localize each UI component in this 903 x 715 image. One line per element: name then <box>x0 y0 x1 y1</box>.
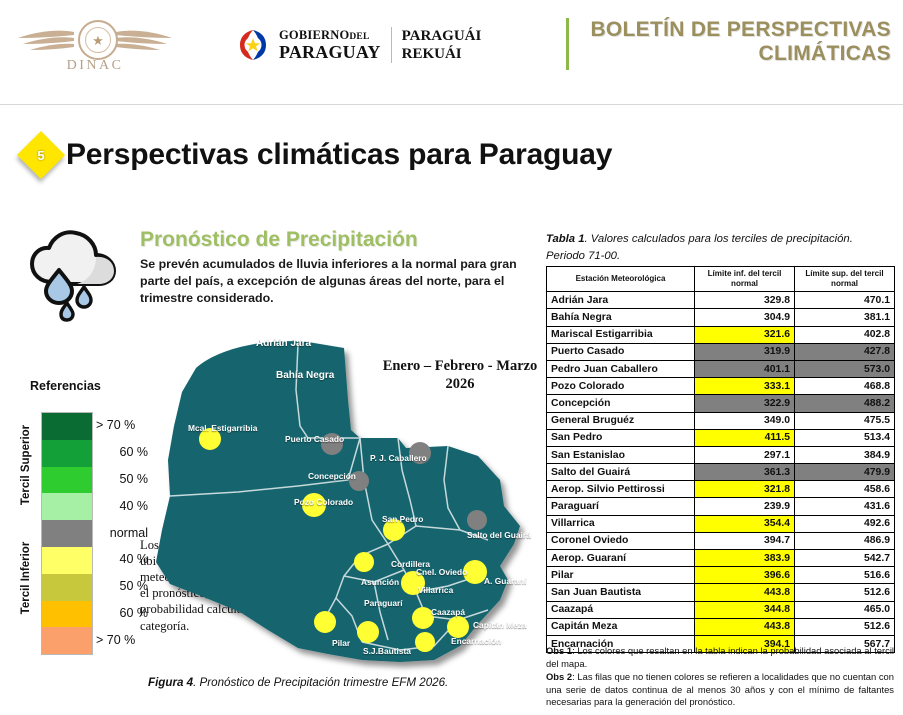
logo-divider <box>391 27 392 63</box>
legend-swatch-4 <box>42 520 92 547</box>
gobierno-paraguay-logo: GOBIERNODEL PARAGUAY PARAGUÁI REKUÁI <box>236 22 481 68</box>
legend-swatch-1 <box>42 440 92 467</box>
gobierno-del: DEL <box>349 32 369 42</box>
cell-station: Aerop. Silvio Pettirossi <box>547 481 695 498</box>
bulletin-title: BOLETÍN DE PERSPECTIVAS CLIMÁTICAS <box>581 18 891 66</box>
table-row: Caazapá344.8465.0 <box>547 601 895 618</box>
cell-tercil-sup: 458.6 <box>795 481 895 498</box>
forecast-block: Pronóstico de Precipitación Se prevén ac… <box>140 228 530 307</box>
legend-swatch-5 <box>42 547 92 574</box>
cell-tercil-inf: 443.8 <box>695 584 795 601</box>
table-body: Adrián Jara329.8470.1Bahía Negra304.9381… <box>547 292 895 653</box>
wing-right-icon <box>114 26 176 56</box>
map-label: Pilar <box>332 638 350 648</box>
legend-label-2: 50 % <box>94 466 154 493</box>
legend-label-1: 60 % <box>94 439 154 466</box>
map-station-dot[interactable] <box>415 632 435 652</box>
table-row: Pedro Juan Caballero401.1573.0 <box>547 360 895 377</box>
legend-swatch-6 <box>42 574 92 601</box>
map-label: Salto del Guairá <box>467 530 531 540</box>
table-row: San Pedro411.5513.4 <box>547 429 895 446</box>
cell-tercil-inf: 321.6 <box>695 326 795 343</box>
map-label: Mcal. Estigarribia <box>188 423 257 433</box>
guarani-line1: PARAGUÁI <box>402 29 482 44</box>
cell-tercil-inf: 443.8 <box>695 618 795 635</box>
cell-station: Villarrica <box>547 515 695 532</box>
header-accent-divider <box>566 18 569 70</box>
table-row: Coronel Oviedo394.7486.9 <box>547 532 895 549</box>
map-label: Villarrica <box>418 585 453 595</box>
map-label: Pozo Colorado <box>294 497 353 507</box>
legend-group-labels: Tercil Superior Tercil Inferior <box>14 412 36 657</box>
cell-tercil-inf: 344.8 <box>695 601 795 618</box>
map-label: Adrián Jara <box>256 338 311 349</box>
map-period-year: 2026 <box>446 376 475 392</box>
map-label: Puerto Casado <box>285 434 344 444</box>
figure-caption-text: . Pronóstico de Precipitación trimestre … <box>193 676 448 689</box>
cell-station: Bahía Negra <box>547 309 695 326</box>
figure-caption-label: Figura 4 <box>148 676 193 689</box>
section-number: 5 <box>18 132 64 178</box>
table-row: Capitán Meza443.8512.6 <box>547 618 895 635</box>
cell-station: San Juan Bautista <box>547 584 695 601</box>
map-period-label: Enero – Febrero - Marzo 2026 <box>380 357 540 393</box>
map-station-dot[interactable] <box>447 616 469 638</box>
cell-tercil-inf: 354.4 <box>695 515 795 532</box>
legend-swatch-0 <box>42 413 92 440</box>
col-header-station: Estación Meteorológica <box>547 267 695 292</box>
cell-tercil-inf: 239.9 <box>695 498 795 515</box>
cell-station: Caazapá <box>547 601 695 618</box>
cell-tercil-sup: 384.9 <box>795 446 895 463</box>
cell-station: Puerto Casado <box>547 343 695 360</box>
cell-tercil-inf: 349.0 <box>695 412 795 429</box>
paraguay-emblem-icon <box>236 28 270 62</box>
legend-label-0: > 70 % <box>94 412 154 439</box>
table-row: Puerto Casado319.9427.8 <box>547 343 895 360</box>
guarani-line2: REKUÁI <box>402 47 482 62</box>
cell-tercil-sup: 427.8 <box>795 343 895 360</box>
forecast-heading: Pronóstico de Precipitación <box>140 228 530 252</box>
cell-tercil-sup: 513.4 <box>795 429 895 446</box>
dinac-seal-icon: ★ <box>78 20 118 60</box>
legend-group-upper: Tercil Superior <box>20 411 32 519</box>
forecast-body: Se prevén acumulados de lluvia inferiore… <box>140 256 530 307</box>
table-caption-text: . Valores calculados para los terciles d… <box>546 233 853 262</box>
table-row: Adrián Jara329.8470.1 <box>547 292 895 309</box>
map-label: Concepción <box>308 471 356 481</box>
map-label: Capitán Meza <box>473 620 527 630</box>
legend-panel: Tercil Superior Tercil Inferior > 70 %60… <box>14 412 139 657</box>
map-label: Bahía Negra <box>276 370 334 381</box>
legend-title: Referencias <box>30 379 101 393</box>
page-header: ★ DINAC GOBIERNODEL PARAGUAY <box>0 0 903 105</box>
map-station-dot[interactable] <box>354 552 374 572</box>
map-station-dot[interactable] <box>314 611 336 633</box>
gobierno-line2: PARAGUAY <box>279 43 381 61</box>
map-label: San Pedro <box>382 514 423 524</box>
cell-tercil-sup: 573.0 <box>795 360 895 377</box>
cell-station: Pedro Juan Caballero <box>547 360 695 377</box>
cell-tercil-sup: 479.9 <box>795 464 895 481</box>
table-caption-label: Tabla 1 <box>546 233 585 245</box>
cell-tercil-sup: 468.8 <box>795 378 895 395</box>
map-period-months: Enero – Febrero - Marzo <box>383 358 538 374</box>
cell-station: Pilar <box>547 567 695 584</box>
map-label: Paraguarí <box>364 598 403 608</box>
table-row: San Estanislao297.1384.9 <box>547 446 895 463</box>
bulletin-page: ★ DINAC GOBIERNODEL PARAGUAY <box>0 0 903 715</box>
table-row: Bahía Negra304.9381.1 <box>547 309 895 326</box>
cell-station: Mariscal Estigarribia <box>547 326 695 343</box>
col-header-inf: Límite inf. del tercilnormal <box>695 267 795 292</box>
legend-swatch-3 <box>42 493 92 520</box>
map-label: A. Guaraní <box>484 576 526 586</box>
map-label: Cnel. Oviedo <box>416 567 467 577</box>
cell-tercil-sup: 470.1 <box>795 292 895 309</box>
cell-station: Paraguarí <box>547 498 695 515</box>
table-caption: Tabla 1. Valores calculados para los ter… <box>546 231 894 265</box>
dinac-logo: ★ DINAC <box>10 12 180 94</box>
table-row: Aerop. Guaraní383.9542.7 <box>547 550 895 567</box>
map-label: Asunción <box>361 577 399 587</box>
cell-tercil-sup: 465.0 <box>795 601 895 618</box>
cell-tercil-inf: 329.8 <box>695 292 795 309</box>
gobierno-line1: GOBIERNO <box>279 28 349 42</box>
cell-tercil-sup: 475.5 <box>795 412 895 429</box>
legend-swatch-2 <box>42 467 92 494</box>
map-station-dot[interactable] <box>467 510 487 530</box>
legend-swatch-column <box>41 412 93 655</box>
cell-station: General Bruguéz <box>547 412 695 429</box>
col-header-sup: Límite sup. del tercilnormal <box>795 267 895 292</box>
table-header-row: Estación Meteorológica Límite inf. del t… <box>547 267 895 292</box>
cell-tercil-inf: 304.9 <box>695 309 795 326</box>
cell-tercil-sup: 402.8 <box>795 326 895 343</box>
cell-tercil-sup: 492.6 <box>795 515 895 532</box>
map-label: Caazapá <box>431 607 465 617</box>
map-label: P. J. Caballero <box>370 453 427 463</box>
paraguay-forecast-map: Enero – Febrero - Marzo 2026 Adrián Jara… <box>148 330 538 675</box>
table-row: General Bruguéz349.0475.5 <box>547 412 895 429</box>
cell-station: Pozo Colorado <box>547 378 695 395</box>
cell-tercil-sup: 381.1 <box>795 309 895 326</box>
legend-swatch-8 <box>42 627 92 654</box>
cell-tercil-inf: 411.5 <box>695 429 795 446</box>
cell-station: Adrián Jara <box>547 292 695 309</box>
cell-tercil-sup: 512.6 <box>795 618 895 635</box>
legend-group-lower: Tercil Inferior <box>20 524 32 632</box>
table-row: Salto del Guairá361.3479.9 <box>547 464 895 481</box>
page-title: Perspectivas climáticas para Paraguay <box>66 138 612 172</box>
cell-tercil-inf: 396.6 <box>695 567 795 584</box>
cell-tercil-inf: 322.9 <box>695 395 795 412</box>
obs-1: Obs 1: Los colores que resaltan en la ta… <box>546 645 894 670</box>
header-rule <box>0 104 903 105</box>
table-row: Pozo Colorado333.1468.8 <box>547 378 895 395</box>
cell-tercil-inf: 401.1 <box>695 360 795 377</box>
cell-tercil-inf: 321.8 <box>695 481 795 498</box>
cell-station: San Estanislao <box>547 446 695 463</box>
cell-tercil-inf: 361.3 <box>695 464 795 481</box>
cell-tercil-sup: 512.6 <box>795 584 895 601</box>
cell-tercil-inf: 394.7 <box>695 532 795 549</box>
table-row: Aerop. Silvio Pettirossi321.8458.6 <box>547 481 895 498</box>
table-row: Mariscal Estigarribia321.6402.8 <box>547 326 895 343</box>
cell-station: Capitán Meza <box>547 618 695 635</box>
map-station-dot[interactable] <box>357 621 379 643</box>
table-row: Pilar396.6516.6 <box>547 567 895 584</box>
cell-station: San Pedro <box>547 429 695 446</box>
section-number-badge: 5 <box>18 132 64 178</box>
dinac-label: DINAC <box>10 58 180 74</box>
cell-tercil-inf: 297.1 <box>695 446 795 463</box>
map-label: S.J.Bautista <box>363 646 411 656</box>
table-observations: Obs 1: Los colores que resaltan en la ta… <box>546 645 894 710</box>
table-row: Concepción322.9488.2 <box>547 395 895 412</box>
cell-station: Coronel Oviedo <box>547 532 695 549</box>
legend-label-3: 40 % <box>94 492 154 519</box>
legend-swatch-7 <box>42 601 92 628</box>
tercil-table: Estación Meteorológica Límite inf. del t… <box>546 266 895 653</box>
obs-2: Obs 2: Las filas que no tienen colores s… <box>546 671 894 709</box>
cell-station: Salto del Guairá <box>547 464 695 481</box>
figure-caption: Figura 4. Pronóstico de Precipitación tr… <box>148 676 548 689</box>
cell-tercil-sup: 542.7 <box>795 550 895 567</box>
table-row: Villarrica354.4492.6 <box>547 515 895 532</box>
table-row: San Juan Bautista443.8512.6 <box>547 584 895 601</box>
cell-tercil-inf: 319.9 <box>695 343 795 360</box>
cell-tercil-sup: 516.6 <box>795 567 895 584</box>
gobierno-wordmark: GOBIERNODEL PARAGUAY PARAGUÁI REKUÁI <box>279 27 481 63</box>
cell-tercil-inf: 383.9 <box>695 550 795 567</box>
wing-left-icon <box>14 26 76 56</box>
section-heading: 5 Perspectivas climáticas para Paraguay <box>18 126 612 184</box>
cell-tercil-sup: 431.6 <box>795 498 895 515</box>
cell-tercil-sup: 486.9 <box>795 532 895 549</box>
map-label: Encarnación <box>451 636 501 646</box>
cell-tercil-sup: 488.2 <box>795 395 895 412</box>
table-row: Paraguarí239.9431.6 <box>547 498 895 515</box>
cell-tercil-inf: 333.1 <box>695 378 795 395</box>
rain-cloud-icon <box>22 224 132 322</box>
cell-station: Aerop. Guaraní <box>547 550 695 567</box>
cell-station: Concepción <box>547 395 695 412</box>
